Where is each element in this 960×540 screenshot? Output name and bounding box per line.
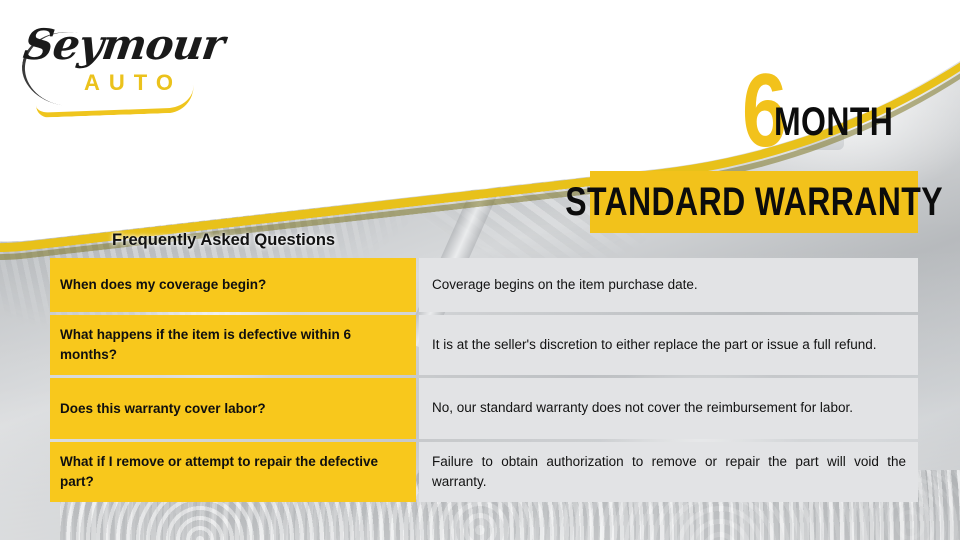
faq-answer: Failure to obtain authorization to remov… bbox=[419, 442, 918, 502]
logo-subtitle: AUTO bbox=[84, 70, 182, 96]
faq-question: What happens if the item is defective wi… bbox=[50, 315, 416, 375]
seymour-auto-logo: Seymour AUTO bbox=[16, 14, 206, 114]
duration-unit: MONTH bbox=[774, 102, 893, 142]
faq-row: What happens if the item is defective wi… bbox=[50, 315, 918, 375]
faq-table: When does my coverage begin? Coverage be… bbox=[50, 258, 918, 505]
faq-answer: It is at the seller's discretion to eith… bbox=[419, 315, 918, 375]
faq-row: Does this warranty cover labor? No, our … bbox=[50, 378, 918, 439]
faq-question: Does this warranty cover labor? bbox=[50, 378, 416, 439]
faq-row: When does my coverage begin? Coverage be… bbox=[50, 258, 918, 312]
faq-question: When does my coverage begin? bbox=[50, 258, 416, 312]
faq-question: What if I remove or attempt to repair th… bbox=[50, 442, 416, 502]
faq-section-title: Frequently Asked Questions bbox=[112, 231, 335, 250]
warranty-slide: Seymour AUTO 6 MONTH STANDARD WARRANTY F… bbox=[0, 0, 960, 540]
faq-answer: No, our standard warranty does not cover… bbox=[419, 378, 918, 439]
standard-warranty-banner: STANDARD WARRANTY bbox=[590, 171, 918, 233]
logo-wordmark: Seymour bbox=[21, 20, 227, 69]
standard-warranty-banner-text: STANDARD WARRANTY bbox=[565, 180, 943, 225]
faq-answer: Coverage begins on the item purchase dat… bbox=[419, 258, 918, 312]
faq-row: What if I remove or attempt to repair th… bbox=[50, 442, 918, 502]
duration-heading: 6 MONTH bbox=[742, 54, 923, 154]
